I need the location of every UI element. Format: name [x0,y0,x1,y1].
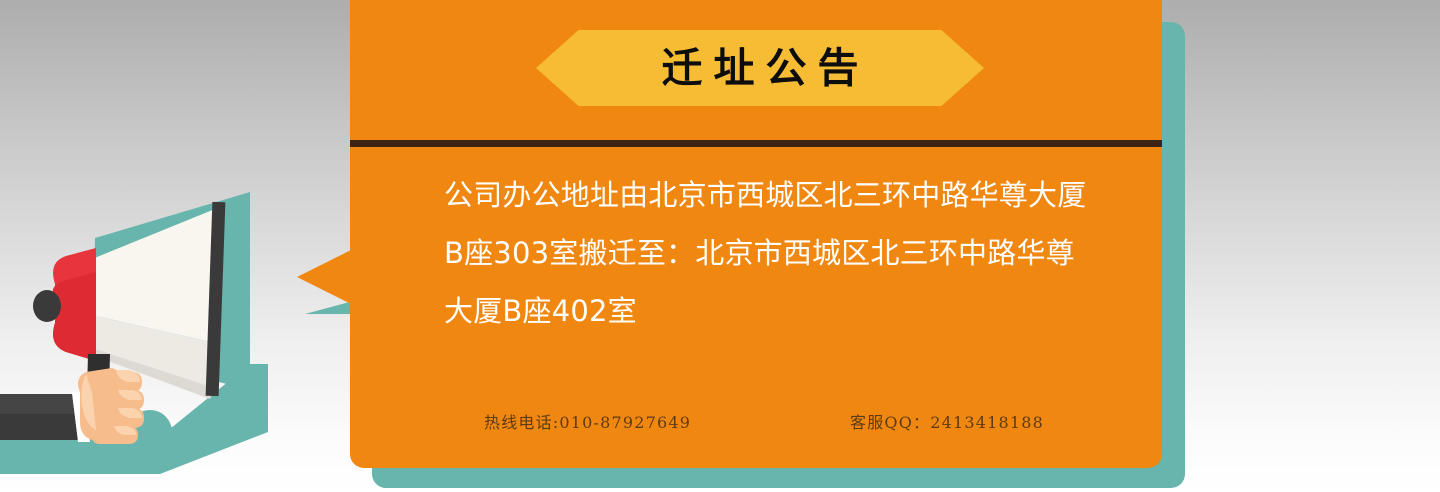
header-divider [350,140,1162,147]
megaphone-illustration [0,178,330,492]
suit-sleeve [0,392,90,442]
qq-text: 客服QQ：2413418188 [850,409,1044,433]
hand [78,368,144,444]
speech-tail [297,248,355,306]
announcement-title: 迁址公告 [651,48,870,89]
title-banner: 迁址公告 [536,30,984,106]
megaphone-nub [33,290,61,322]
announcement-banner-stage: 迁址公告 公司办公地址由北京市西城区北三环中路华尊大厦B座303室搬迁至：北京市… [0,0,1440,492]
footer-contacts: 热线电话:010-87927649 客服QQ：2413418188 [350,409,1162,437]
hotline-text: 热线电话:010-87927649 [484,409,691,433]
announcement-body: 公司办公地址由北京市西城区北三环中路华尊大厦B座303室搬迁至：北京市西城区北三… [444,166,1092,340]
